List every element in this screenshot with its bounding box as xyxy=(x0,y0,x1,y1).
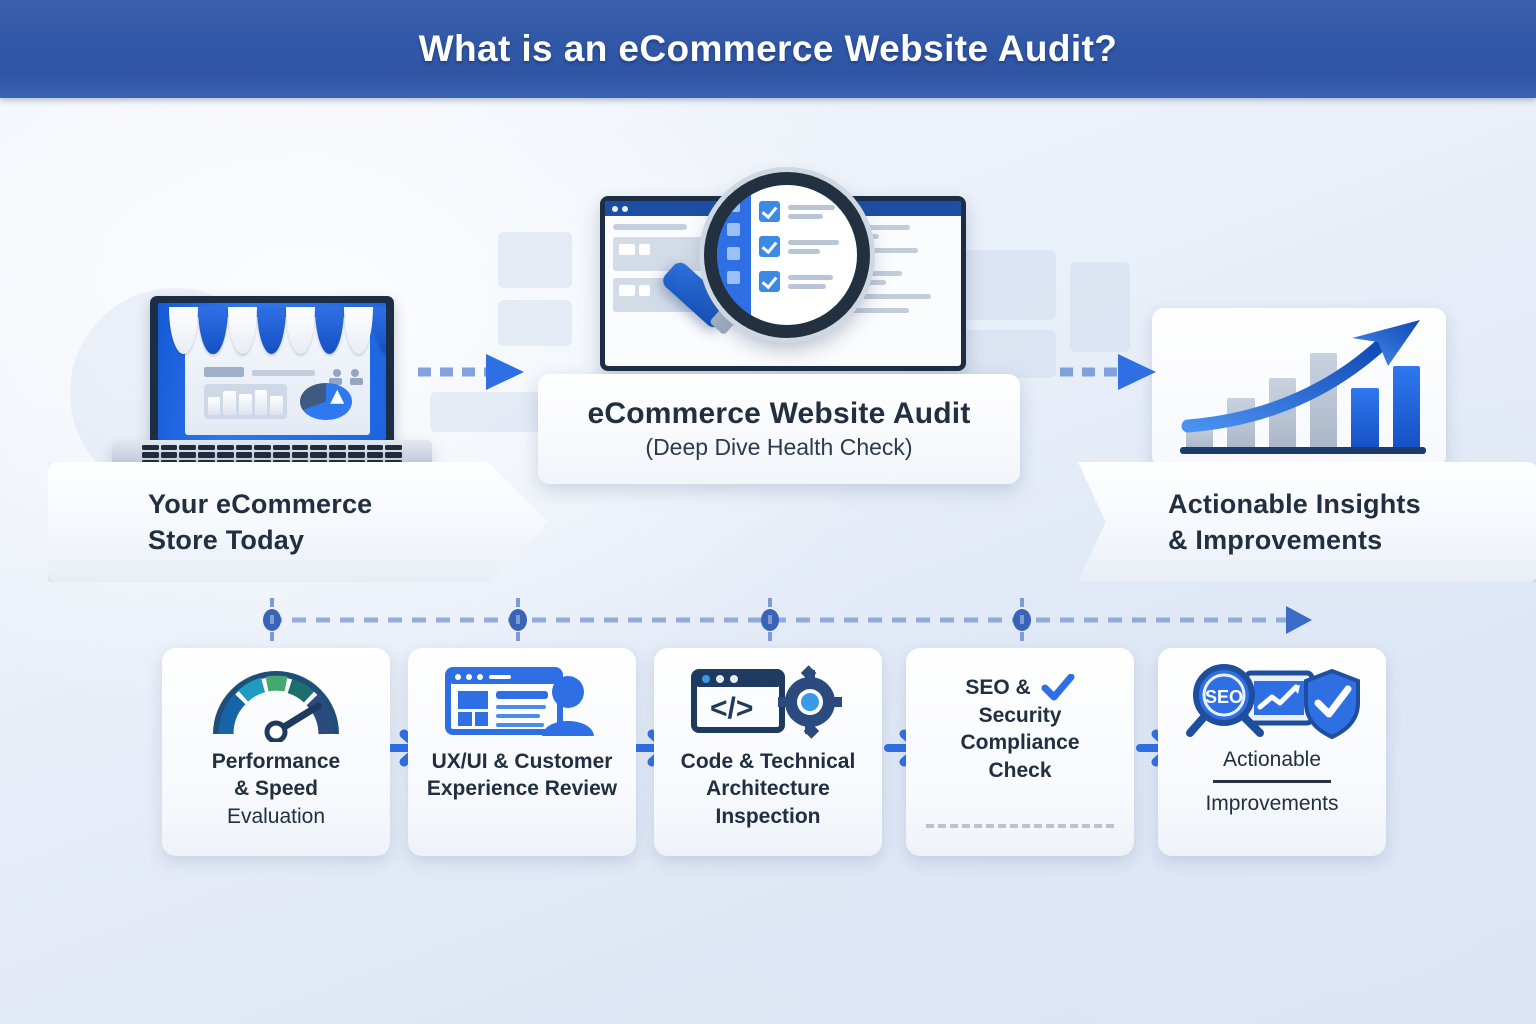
process-card-performance-line3: Evaluation xyxy=(227,803,325,830)
arrow-right-icon xyxy=(1060,354,1156,390)
process-card-ux-ui[interactable]: UX/UI & Customer Experience Review xyxy=(408,648,636,856)
svg-text:</>: </> xyxy=(710,692,753,725)
seo-magnifier-shield-icon: SEO xyxy=(1182,662,1362,744)
flow-stage-audit-subtitle: (Deep Dive Health Check) xyxy=(645,434,912,461)
growth-chart-icon xyxy=(1152,308,1446,468)
process-card-actionable-line1: Actionable xyxy=(1223,746,1321,773)
flow-stage-audit-title: eCommerce Website Audit xyxy=(587,397,970,431)
header-bar: What is an eCommerce Website Audit? xyxy=(0,0,1536,98)
flow-stage-store[interactable]: Your eCommerce Store Today xyxy=(48,462,548,582)
process-card-performance-line1: Performance xyxy=(212,748,340,775)
bg-decoration-shape xyxy=(498,300,572,346)
magnifier-lens xyxy=(704,172,870,338)
product-shelf xyxy=(204,384,287,419)
process-card-seo-security-line2: Security xyxy=(979,702,1062,729)
bg-decoration-shape xyxy=(960,330,1056,378)
process-card-seo-security[interactable]: SEO & Security Compliance Check xyxy=(906,648,1134,856)
flow-stage-insights-line2: & Improvements xyxy=(1168,522,1536,558)
flow-stage-insights[interactable]: Actionable Insights & Improvements xyxy=(1078,462,1536,582)
process-card-code[interactable]: </> Code & Technical Architecture Inspec… xyxy=(654,648,882,856)
timeline-node xyxy=(1013,598,1031,648)
pie-chart-icon xyxy=(300,383,352,421)
bg-decoration-shape xyxy=(430,392,540,432)
bg-decoration-shape xyxy=(960,250,1056,320)
process-card-ux-ui-line2: Experience Review xyxy=(427,775,617,802)
card-dashed-rule xyxy=(926,824,1114,828)
infographic-canvas: What is an eCommerce Website Audit? xyxy=(0,0,1536,1024)
arrow-right-icon xyxy=(418,354,524,390)
checkmark-icon xyxy=(1041,674,1075,702)
bg-decoration-shape xyxy=(1070,262,1130,352)
process-card-code-line3: Inspection xyxy=(715,803,820,830)
timeline-node xyxy=(509,598,527,648)
magnifying-glass-icon xyxy=(704,172,870,338)
flow-stage-insights-line1: Actionable Insights xyxy=(1168,486,1536,522)
flow-stage-store-line2: Store Today xyxy=(148,522,548,558)
code-window-gear-icon: </> xyxy=(688,662,848,744)
trend-arrow-icon xyxy=(1152,308,1446,468)
speedometer-gauge-icon xyxy=(206,662,346,744)
laptop-screen xyxy=(158,303,386,440)
process-card-performance-line2: & Speed xyxy=(234,775,318,802)
svg-text:SEO: SEO xyxy=(1205,687,1243,707)
laptop-storefront-icon xyxy=(112,296,432,486)
process-card-seo-security-line4: Check xyxy=(988,757,1051,784)
magnifier-checklist-icon xyxy=(600,196,966,371)
process-card-seo-security-line3: Compliance xyxy=(960,729,1079,756)
flow-stage-audit[interactable]: eCommerce Website Audit (Deep Dive Healt… xyxy=(538,374,1020,484)
page-title: What is an eCommerce Website Audit? xyxy=(419,28,1118,70)
flow-stage-store-line1: Your eCommerce xyxy=(148,486,548,522)
laptop-lid xyxy=(150,296,394,448)
card-divider xyxy=(1213,780,1331,783)
process-card-ux-ui-line1: UX/UI & Customer xyxy=(432,748,613,775)
timeline-node xyxy=(761,598,779,648)
process-card-actionable[interactable]: SEO Actionable Improvements xyxy=(1158,648,1386,856)
timeline-node xyxy=(263,598,281,648)
process-card-code-line2: Architecture xyxy=(706,775,830,802)
storefront-awning xyxy=(169,307,386,354)
process-card-actionable-line2: Improvements xyxy=(1205,790,1338,817)
process-card-performance[interactable]: Performance & Speed Evaluation xyxy=(162,648,390,856)
process-card-code-line1: Code & Technical xyxy=(681,748,856,775)
browser-user-icon xyxy=(442,662,602,744)
process-card-seo-security-line1: SEO & xyxy=(965,674,1030,701)
bg-decoration-shape xyxy=(498,232,572,288)
